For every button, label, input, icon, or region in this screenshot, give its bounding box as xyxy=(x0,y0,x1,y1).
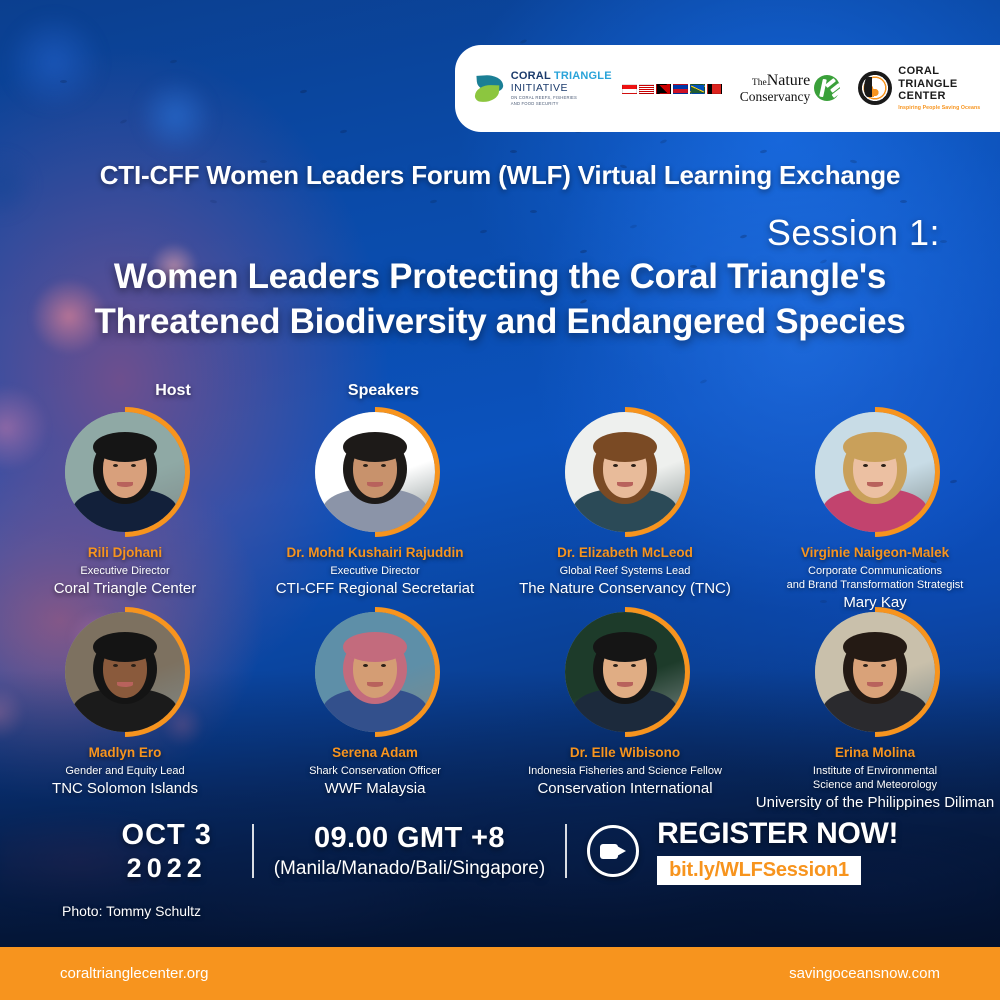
person-organization: Conservation International xyxy=(537,780,712,799)
person-organization: TNC Solomon Islands xyxy=(52,780,198,799)
avatar xyxy=(315,612,435,732)
ctc-logo-tagline: Inspiring People Saving Oceans xyxy=(898,106,980,112)
avatar xyxy=(65,412,185,532)
person-card: Dr. Elle WibisonoIndonesia Fisheries and… xyxy=(500,612,750,813)
footer-url-left[interactable]: coraltrianglecenter.org xyxy=(60,965,208,982)
tnc-logo-the: The xyxy=(752,78,767,88)
avatar xyxy=(565,412,685,532)
event-details-bar: OCT 3 2022 09.00 GMT +8 (Manila/Manado/B… xyxy=(0,812,1000,890)
oak-leaf-icon xyxy=(814,75,840,101)
event-timezones: (Manila/Manado/Bali/Singapore) xyxy=(274,858,545,880)
person-name: Erina Molina xyxy=(835,745,915,762)
divider-1 xyxy=(252,824,254,878)
event-time: 09.00 GMT +8 (Manila/Manado/Bali/Singapo… xyxy=(274,822,545,880)
avatar xyxy=(815,612,935,732)
host-label: Host xyxy=(128,382,218,400)
person-card: Serena AdamShark Conservation OfficerWWF… xyxy=(250,612,500,813)
person-role: Executive Director xyxy=(330,564,419,578)
page-title: Women Leaders Protecting the Coral Trian… xyxy=(0,255,1000,345)
person-organization: CTI-CFF Regional Secretariat xyxy=(276,580,474,599)
poster-canvas: CORAL TRIANGLE INITIATIVE ON CORAL REEFS… xyxy=(0,0,1000,1000)
flag-malaysia xyxy=(639,84,654,94)
person-organization: The Nature Conservancy (TNC) xyxy=(519,580,731,599)
ctc-logo-word2: TRIANGLE xyxy=(898,78,980,91)
flag-philippines xyxy=(673,84,688,94)
headline-line-1: Women Leaders Protecting the Coral Trian… xyxy=(50,255,950,300)
cti-leaf-icon xyxy=(475,74,505,104)
person-role: Gender and Equity Lead xyxy=(65,764,184,778)
logo-the-nature-conservancy: TheNature Conservancy xyxy=(740,73,840,103)
avatar xyxy=(565,612,685,732)
cti-logo-line1-a: CORAL xyxy=(511,70,554,82)
avatar xyxy=(815,412,935,532)
ctc-tree-icon xyxy=(858,71,892,105)
person-name: Dr. Mohd Kushairi Rajuddin xyxy=(286,545,463,562)
partner-logo-bar: CORAL TRIANGLE INITIATIVE ON CORAL REEFS… xyxy=(455,45,1000,132)
flag-papua-new-guinea xyxy=(656,84,671,94)
logo-coral-triangle-initiative: CORAL TRIANGLE INITIATIVE ON CORAL REEFS… xyxy=(475,71,722,106)
event-date-line1: OCT 3 xyxy=(102,819,232,852)
person-name: Serena Adam xyxy=(332,745,418,762)
photo-credit: Photo: Tommy Schultz xyxy=(62,903,201,919)
person-role: Global Reef Systems Lead xyxy=(560,564,691,578)
person-role: Indonesia Fisheries and Science Fellow xyxy=(528,764,722,778)
people-row-1: Rili DjohaniExecutive DirectorCoral Tria… xyxy=(0,412,1000,613)
person-name: Dr. Elle Wibisono xyxy=(570,745,680,762)
speakers-label: Speakers xyxy=(316,382,451,400)
avatar xyxy=(65,612,185,732)
person-card: Madlyn EroGender and Equity LeadTNC Solo… xyxy=(0,612,250,813)
person-role: Corporate Communications and Brand Trans… xyxy=(787,564,964,592)
person-name: Dr. Elizabeth McLeod xyxy=(557,545,693,562)
person-card: Dr. Mohd Kushairi RajuddinExecutive Dire… xyxy=(250,412,500,613)
divider-2 xyxy=(565,824,567,878)
video-camera-icon xyxy=(587,825,639,877)
person-card: Dr. Elizabeth McLeodGlobal Reef Systems … xyxy=(500,412,750,613)
person-organization: WWF Malaysia xyxy=(325,780,426,799)
person-name: Rili Djohani xyxy=(88,545,162,562)
footer-bar: coraltrianglecenter.org savingoceansnow.… xyxy=(0,947,1000,1000)
person-organization: University of the Philippines Diliman xyxy=(756,794,994,813)
cti-logo-line3: ON CORAL REEFS, FISHERIES AND FOOD SECUR… xyxy=(511,95,612,106)
person-role: Institute of Environmental Science and M… xyxy=(813,764,937,792)
member-country-flags xyxy=(622,84,722,94)
ctc-logo-word1: CORAL xyxy=(898,65,980,78)
event-date: OCT 3 2022 xyxy=(102,819,232,884)
cti-logo-line2: INITIATIVE xyxy=(511,83,612,94)
people-row-2: Madlyn EroGender and Equity LeadTNC Solo… xyxy=(0,612,1000,813)
person-role: Executive Director xyxy=(80,564,169,578)
person-organization: Coral Triangle Center xyxy=(54,580,197,599)
session-number: Session 1: xyxy=(767,212,940,254)
register-now-label: REGISTER NOW! xyxy=(657,817,898,851)
person-role: Shark Conservation Officer xyxy=(309,764,441,778)
logo-coral-triangle-center: CORAL TRIANGLE CENTER Inspiring People S… xyxy=(858,65,980,112)
cti-logo-line1-b: TRIANGLE xyxy=(554,70,612,82)
person-card: Erina MolinaInstitute of Environmental S… xyxy=(750,612,1000,813)
register-link[interactable]: bit.ly/WLFSession1 xyxy=(657,856,861,885)
person-card: Rili DjohaniExecutive DirectorCoral Tria… xyxy=(0,412,250,613)
person-name: Virginie Naigeon-Malek xyxy=(801,545,949,562)
avatar xyxy=(315,412,435,532)
ctc-logo-word3: CENTER xyxy=(898,90,980,103)
person-card: Virginie Naigeon-MalekCorporate Communic… xyxy=(750,412,1000,613)
tnc-logo-nature: Nature xyxy=(767,72,811,89)
event-kicker-title: CTI-CFF Women Leaders Forum (WLF) Virtua… xyxy=(0,160,1000,191)
flag-indonesia xyxy=(622,84,637,94)
headline-line-2: Threatened Biodiversity and Endangered S… xyxy=(50,300,950,345)
tnc-logo-conservancy: Conservancy xyxy=(740,90,810,104)
footer-url-right[interactable]: savingoceansnow.com xyxy=(789,965,940,982)
event-date-line2: 2022 xyxy=(102,853,232,884)
event-time-value: 09.00 GMT +8 xyxy=(274,822,545,855)
flag-solomon-islands xyxy=(690,84,705,94)
registration-block[interactable]: REGISTER NOW! bit.ly/WLFSession1 xyxy=(657,817,898,885)
person-name: Madlyn Ero xyxy=(89,745,162,762)
flag-timor-leste xyxy=(707,84,722,94)
